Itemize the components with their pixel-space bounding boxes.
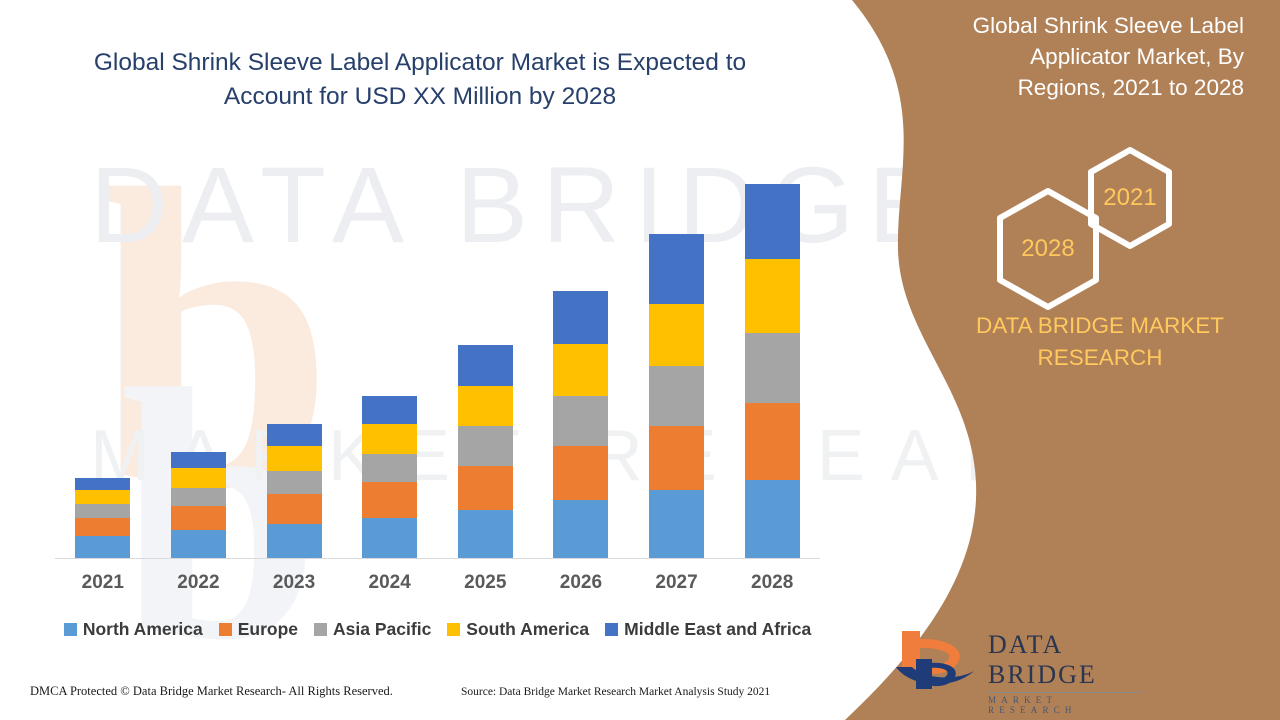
stacked-bar [553,291,608,558]
bar-column [151,150,246,558]
data-bridge-logo: DATA BRIDGE MARKET RESEARCH [890,625,1140,695]
bar-segment [171,488,226,506]
x-axis-tick-label: 2021 [55,572,150,602]
stacked-bar [458,345,513,558]
bar-segment [362,396,417,424]
brand-panel-content: Global Shrink Sleeve Label Applicator Ma… [860,0,1280,720]
bar-segment [267,471,322,494]
bar-segment [553,396,608,446]
bar-segment [362,424,417,454]
bar-segment [745,403,800,480]
bar-segment [75,478,130,490]
x-axis-line [55,558,820,559]
x-axis-tick-label: 2028 [725,572,820,602]
stacked-bar [745,184,800,558]
bar-segment [553,446,608,500]
bar-segment [171,468,226,488]
chart-title: Global Shrink Sleeve Label Applicator Ma… [70,46,770,114]
bar-segment [458,426,513,466]
hexagon-badge-2021-label: 2021 [1103,184,1156,212]
x-axis-tick-label: 2023 [247,572,342,602]
bar-segment [75,490,130,504]
legend-label: Europe [238,619,298,640]
bar-segment [171,452,226,468]
bar-segment [649,490,704,558]
bar-segment [267,524,322,558]
x-axis-labels: 20212022202320242025202620272028 [55,572,820,602]
bar-segment [458,386,513,426]
bar-segment [362,454,417,482]
bar-segment [267,494,322,524]
bar-column [629,150,724,558]
brand-name: DATA BRIDGE MARKET RESEARCH [950,310,1250,374]
bar-segment [649,234,704,304]
bar-column [342,150,437,558]
legend-item[interactable]: Middle East and Africa [605,619,811,640]
bar-column [55,150,150,558]
bar-column [725,150,820,558]
legend-swatch-icon [314,623,327,636]
chart-panel: b b DATA BRIDGE MARKET RESEARCH Global S… [0,0,880,720]
bar-segment [745,480,800,558]
bar-segment [649,366,704,426]
bar-column [533,150,628,558]
footer-source: Source: Data Bridge Market Research Mark… [461,686,770,698]
stacked-bar [362,396,417,558]
bar-segment [458,345,513,386]
bar-segment [75,518,130,536]
legend-swatch-icon [605,623,618,636]
bar-segment [745,333,800,403]
bar-segment [267,424,322,446]
bar-segment [171,530,226,558]
bar-column [247,150,342,558]
chart-legend: North AmericaEuropeAsia PacificSouth Ame… [55,616,820,642]
bar-segment [553,291,608,344]
logo-mark-icon [890,625,985,695]
hexagon-badge-2028-label: 2028 [1021,235,1074,263]
bar-column [438,150,533,558]
bar-segment [649,304,704,366]
bar-chart-bars [55,150,820,558]
bar-segment [75,536,130,558]
legend-swatch-icon [447,623,460,636]
logo-title: DATA BRIDGE [988,630,1143,690]
bar-segment [458,510,513,558]
legend-item[interactable]: North America [64,619,203,640]
stacked-bar [267,424,322,558]
legend-label: South America [466,619,589,640]
logo-wordmark: DATA BRIDGE MARKET RESEARCH [988,630,1143,715]
bar-segment [553,500,608,558]
stacked-bar [649,234,704,558]
legend-swatch-icon [64,623,77,636]
legend-item[interactable]: Europe [219,619,298,640]
bar-segment [362,518,417,558]
stacked-bar [171,452,226,558]
logo-divider [988,692,1143,693]
bar-segment [458,466,513,510]
legend-item[interactable]: South America [447,619,589,640]
bar-segment [745,259,800,333]
x-axis-tick-label: 2027 [629,572,724,602]
bar-segment [171,506,226,530]
x-axis-tick-label: 2024 [342,572,437,602]
x-axis-tick-label: 2022 [151,572,246,602]
hexagon-badge-2021: 2021 [1085,146,1175,250]
legend-label: North America [83,619,203,640]
legend-label: Middle East and Africa [624,619,811,640]
bar-segment [267,446,322,471]
bar-segment [745,184,800,259]
panel-title: Global Shrink Sleeve Label Applicator Ma… [944,10,1244,103]
x-axis-tick-label: 2026 [533,572,628,602]
infographic-canvas: b b DATA BRIDGE MARKET RESEARCH Global S… [0,0,1280,720]
x-axis-tick-label: 2025 [438,572,533,602]
stacked-bar [75,478,130,558]
legend-item[interactable]: Asia Pacific [314,619,431,640]
bar-segment [362,482,417,518]
bar-segment [649,426,704,490]
logo-subtitle: MARKET RESEARCH [988,695,1143,715]
bar-segment [75,504,130,518]
bar-segment [553,344,608,396]
legend-label: Asia Pacific [333,619,431,640]
footer-copyright: DMCA Protected © Data Bridge Market Rese… [30,684,393,699]
legend-swatch-icon [219,623,232,636]
